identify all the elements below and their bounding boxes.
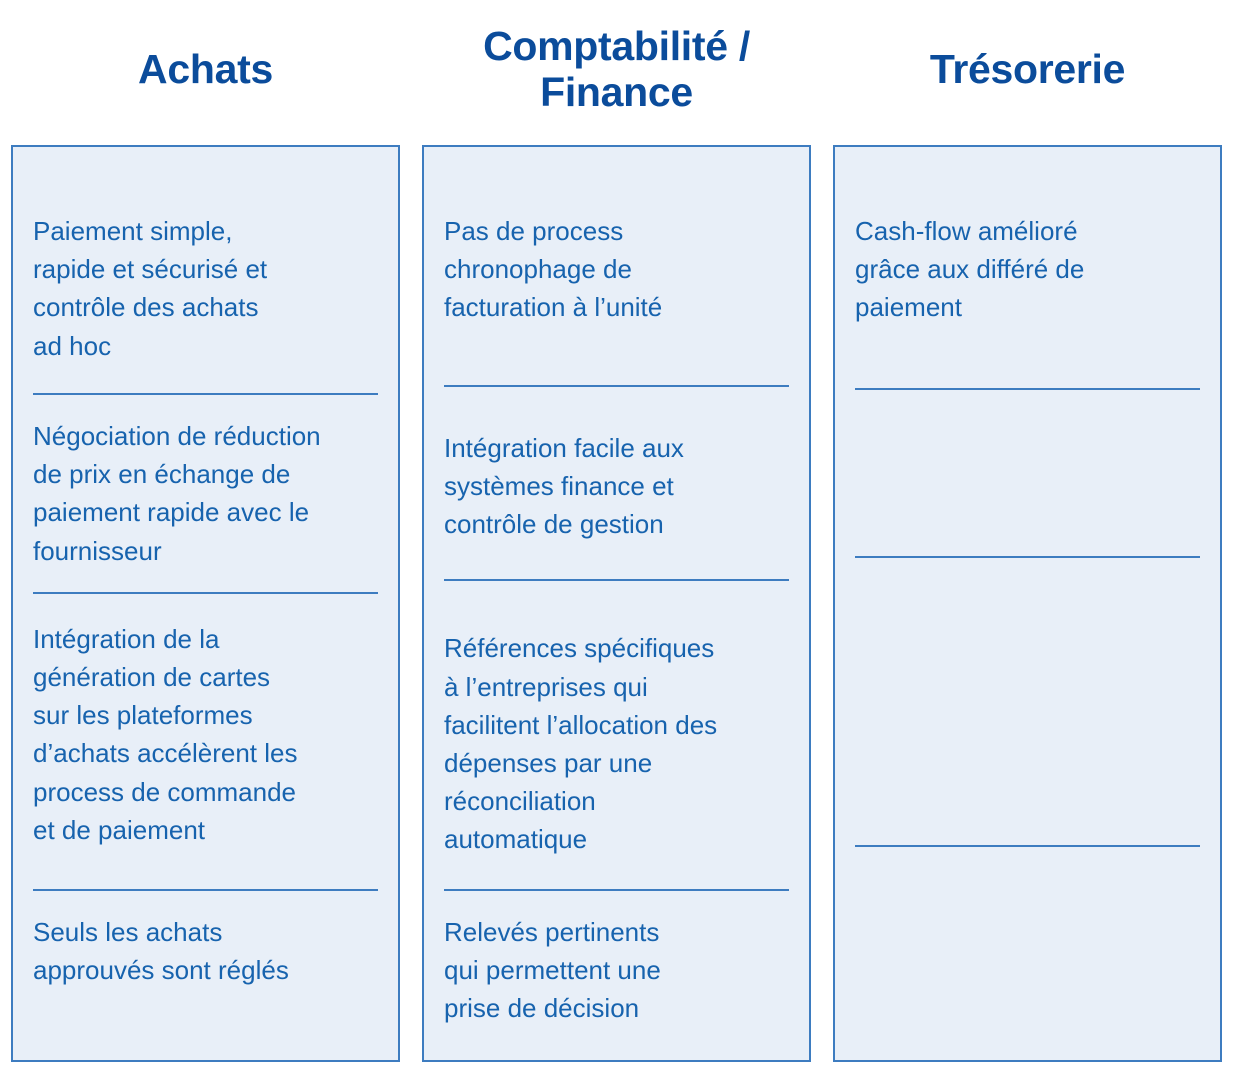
list-item: Négociation de réduction de prix en écha… — [33, 395, 378, 592]
column-title-tresorerie: Trésorerie — [930, 47, 1125, 93]
column-comptabilite-finance: Comptabilité / Finance Pas de process ch… — [422, 0, 811, 1062]
list-item — [855, 847, 1200, 1060]
column-title-comptabilite-finance: Comptabilité / Finance — [483, 24, 750, 116]
panel-tresorerie: Cash-flow amélioré grâce aux différé de … — [833, 145, 1222, 1062]
column-heading-comptabilite-finance: Comptabilité / Finance — [422, 0, 811, 145]
column-tresorerie: Trésorerie Cash-flow amélioré grâce aux … — [833, 0, 1222, 1062]
panel-achats: Paiement simple, rapide et sécurisé et c… — [11, 145, 400, 1062]
column-achats: Achats Paiement simple, rapide et sécuri… — [11, 0, 400, 1062]
list-item: Références spécifiques à l’entreprises q… — [444, 581, 789, 888]
list-item: Paiement simple, rapide et sécurisé et c… — [33, 147, 378, 393]
list-item: Intégration facile aux systèmes finance … — [444, 387, 789, 580]
list-item — [855, 390, 1200, 556]
panel-comptabilite-finance: Pas de process chronophage de facturatio… — [422, 145, 811, 1062]
column-heading-tresorerie: Trésorerie — [833, 0, 1222, 145]
column-title-achats: Achats — [138, 47, 273, 93]
column-heading-achats: Achats — [11, 0, 400, 145]
list-item: Relevés pertinents qui permettent une pr… — [444, 891, 789, 1054]
list-item: Seuls les achats approuvés sont réglés — [33, 891, 378, 1015]
list-item: Intégration de la génération de cartes s… — [33, 594, 378, 889]
list-item — [855, 558, 1200, 845]
columns-container: Achats Paiement simple, rapide et sécuri… — [0, 0, 1234, 1076]
list-item: Cash-flow amélioré grâce aux différé de … — [855, 147, 1200, 388]
benefits-comparison-board: Achats Paiement simple, rapide et sécuri… — [0, 0, 1234, 1076]
list-item: Pas de process chronophage de facturatio… — [444, 147, 789, 385]
